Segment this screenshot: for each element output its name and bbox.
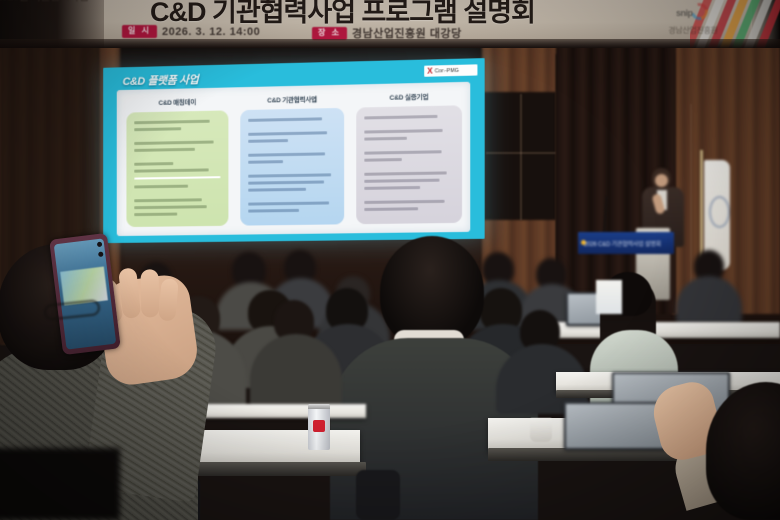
organization-logo: snip 경남산업진흥원 [648,4,738,36]
event-place-row: 장 소 경남산업진흥원 대강당 [312,25,462,41]
table-poster [596,280,622,314]
slide-column-2: C&D 기관협력사업 [240,93,344,226]
stage-banner: 2026 C&D 기관협력사업 설명회 [578,232,674,254]
stage-banner-text: 2026 C&D 기관협력사업 설명회 [584,239,661,248]
slide-column-2-box [240,108,344,226]
slide-body: C&D 매칭데이 [117,82,471,236]
org-name-text: 경남산업진흥원 [648,25,738,36]
slide-logo-text: Con-PMG [435,67,459,74]
foreground-shadow-left [0,448,120,520]
slide-column-3-box [356,105,462,224]
paper-cup[interactable] [530,418,552,442]
slide-column-2-heading: C&D 기관협력사업 [240,93,344,105]
slide-column-3-heading: C&D 실증기업 [356,90,462,102]
chair-back-center [356,470,400,520]
place-text: 경남산업진흥원 대강당 [352,25,462,41]
slide-title: C&D 플랫폼 사업 [123,71,199,89]
event-banner: 2026년 기관협력사업 C&D 기관협력사업 프로그램 설명회 일 시 202… [0,0,780,48]
place-badge: 장 소 [312,27,347,40]
beverage-can-2[interactable] [308,404,330,450]
date-badge: 일 시 [122,25,157,38]
banner-subtitle: 2026년 기관협력사업 [0,0,88,4]
slide-column-1: C&D 매칭데이 [126,95,228,227]
date-text: 2026. 3. 12. 14:00 [162,26,260,38]
slide-column-1-box [126,110,228,227]
slide-logo: X Con-PMG [424,64,477,76]
slide-column-3: C&D 실증기업 [356,90,462,224]
slide-logo-mark: X [427,67,432,75]
seminar-photo-scene: C&D 플랫폼 사업 X Con-PMG C&D 매칭데이 [0,0,780,520]
event-date-row: 일 시 2026. 3. 12. 14:00 [122,25,260,38]
org-logo-icon: snip [676,4,710,22]
smartphone-screen [54,238,117,349]
projected-slide: C&D 플랫폼 사업 X Con-PMG C&D 매칭데이 [103,58,484,243]
org-wordmark: snip [676,8,693,18]
slide-column-1-heading: C&D 매칭데이 [126,95,228,107]
